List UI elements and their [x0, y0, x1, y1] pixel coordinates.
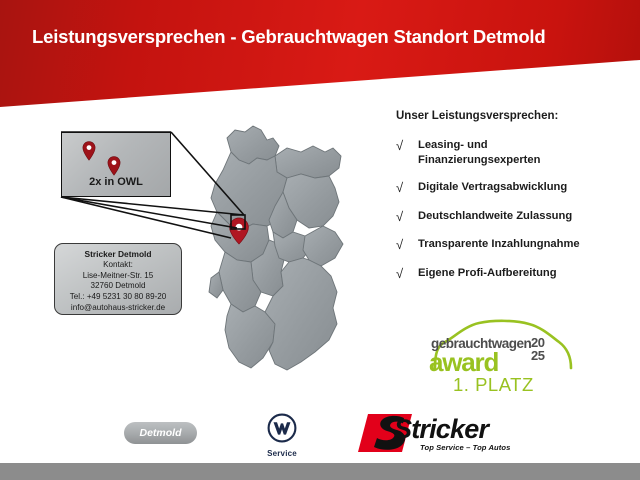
owl-callout-label: 2x in OWL: [62, 176, 170, 188]
contact-kontakt-label: Kontakt:: [55, 260, 181, 271]
award-year: 20 25: [531, 337, 544, 362]
germany-map: [183, 108, 378, 400]
award-year-bottom: 25: [531, 350, 544, 363]
promise-label: Leasing- und Finanzierungsexperten: [418, 138, 540, 168]
header-banner: [0, 0, 640, 110]
check-icon: √: [396, 237, 418, 254]
stricker-logo: Stricker Top Service – Top Autos: [356, 412, 536, 462]
contact-city: 32760 Detmold: [55, 281, 181, 292]
promise-label: Digitale Vertragsabwicklung: [418, 180, 567, 195]
promise-heading: Unser Leistungsversprechen:: [396, 110, 636, 122]
contact-card: Stricker Detmold Kontakt: Lise-Meitner-S…: [54, 243, 182, 315]
promise-label: Deutschlandweite Zulassung: [418, 209, 572, 224]
promise-item-1: √ Leasing- und Finanzierungsexperten: [396, 138, 636, 168]
contact-email[interactable]: info@autohaus-stricker.de: [55, 303, 181, 314]
award-badge: gebrauchtwagen award 20 25 1. PLATZ: [425, 318, 575, 400]
location-badge-detmold[interactable]: Detmold: [124, 422, 197, 444]
vw-service-logo: Service: [258, 413, 306, 458]
stricker-tagline: Top Service – Top Autos: [420, 443, 510, 452]
owl-pin-2: [107, 156, 121, 176]
check-icon: √: [396, 266, 418, 283]
page-title: Leistungsversprechen - Gebrauchtwagen St…: [32, 26, 622, 48]
slide-canvas: Leistungsversprechen - Gebrauchtwagen St…: [0, 0, 640, 480]
promise-label: Eigene Profi-Aufbereitung: [418, 266, 557, 281]
promise-item-3: √ Deutschlandweite Zulassung: [396, 209, 636, 226]
owl-callout-box: 2x in OWL: [61, 132, 171, 197]
check-icon: √: [396, 180, 418, 197]
award-place: 1. PLATZ: [453, 374, 534, 396]
stricker-wordmark: Stricker: [394, 414, 488, 445]
promise-item-5: √ Eigene Profi-Aufbereitung: [396, 266, 636, 283]
promise-label: Transparente Inzahlungnahme: [418, 237, 580, 252]
contact-phone[interactable]: Tel.: +49 5231 30 80 89-20: [55, 292, 181, 303]
check-icon: √: [396, 138, 418, 155]
volkswagen-roundel-icon: [267, 413, 297, 443]
vw-service-label: Service: [258, 449, 306, 458]
promise-list: Unser Leistungsversprechen: √ Leasing- u…: [396, 110, 636, 295]
owl-pin-1: [82, 141, 96, 161]
promise-item-4: √ Transparente Inzahlungnahme: [396, 237, 636, 254]
promise-item-2: √ Digitale Vertragsabwicklung: [396, 180, 636, 197]
contact-street: Lise-Meitner-Str. 15: [55, 271, 181, 282]
footer-bar: [0, 463, 640, 480]
contact-name: Stricker Detmold: [55, 249, 181, 260]
check-icon: √: [396, 209, 418, 226]
